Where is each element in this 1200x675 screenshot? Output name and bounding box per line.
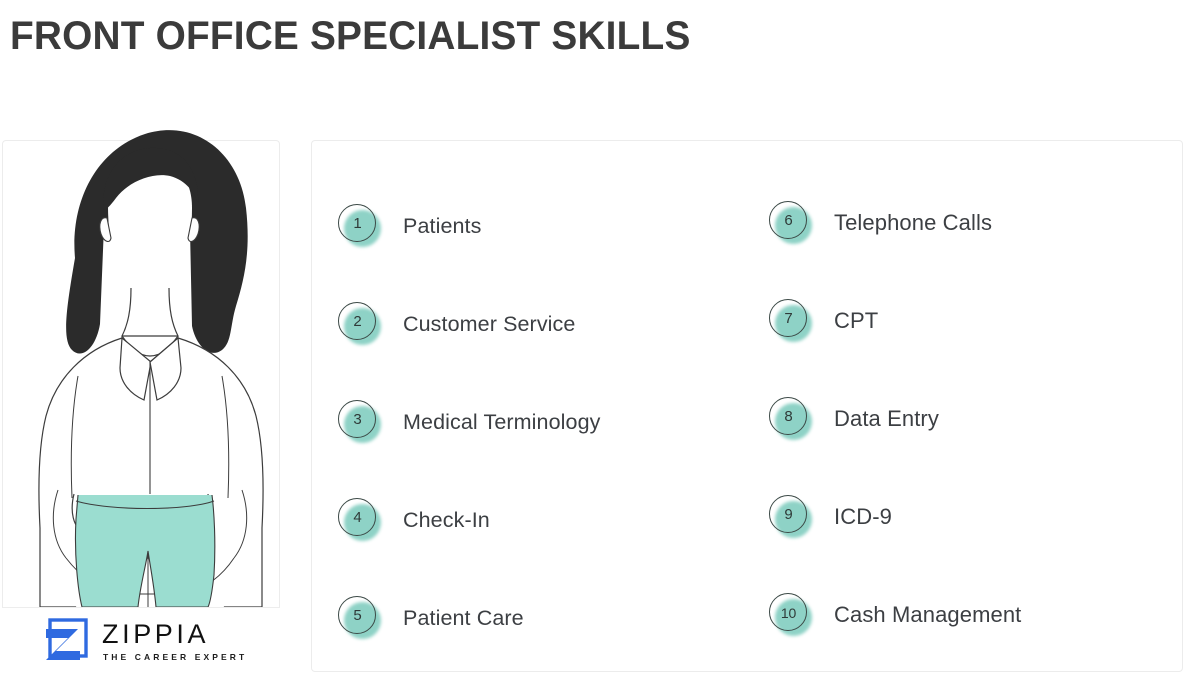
skill-label: Check-In <box>403 508 490 533</box>
skill-number-badge: 2 <box>337 301 383 347</box>
zippia-logo-text: ZIPPIA THE CAREER EXPERT <box>102 619 247 662</box>
portrait-lower-body <box>0 495 290 607</box>
badge-number: 1 <box>352 215 361 231</box>
skills-column-left: 1 Patients 2 Customer Service <box>337 177 757 667</box>
skill-number-badge: 9 <box>768 494 814 540</box>
skill-item[interactable]: 7 CPT <box>768 272 1168 370</box>
skills-card: 1 Patients 2 Customer Service <box>311 140 1183 672</box>
skills-grid: 1 Patients 2 Customer Service <box>312 141 1182 671</box>
skill-number-badge: 4 <box>337 497 383 543</box>
skill-label: ICD-9 <box>834 504 892 530</box>
zippia-logo[interactable]: ZIPPIA THE CAREER EXPERT <box>2 607 280 672</box>
skill-item[interactable]: 2 Customer Service <box>337 275 757 373</box>
badge-ring: 8 <box>769 397 807 435</box>
skill-item[interactable]: 1 Patients <box>337 177 757 275</box>
skill-item[interactable]: 4 Check-In <box>337 471 757 569</box>
skill-number-badge: 3 <box>337 399 383 445</box>
skill-item[interactable]: 5 Patient Care <box>337 569 757 667</box>
skill-label: Patient Care <box>403 606 524 631</box>
skill-label: Cash Management <box>834 602 1021 628</box>
badge-ring: 3 <box>338 400 376 438</box>
skill-number-badge: 7 <box>768 298 814 344</box>
zippia-z-mark-icon <box>44 617 90 663</box>
badge-ring: 4 <box>338 498 376 536</box>
badge-number: 5 <box>352 607 361 623</box>
skill-label: Medical Terminology <box>403 410 600 435</box>
badge-number: 9 <box>783 506 792 522</box>
badge-number: 3 <box>352 411 361 427</box>
skill-number-badge: 5 <box>337 595 383 641</box>
skill-item[interactable]: 9 ICD-9 <box>768 468 1168 566</box>
skill-label: Telephone Calls <box>834 210 992 236</box>
skill-label: Customer Service <box>403 312 575 337</box>
skill-item[interactable]: 3 Medical Terminology <box>337 373 757 471</box>
skill-number-badge: 8 <box>768 396 814 442</box>
badge-number: 8 <box>783 408 792 424</box>
badge-ring: 1 <box>338 204 376 242</box>
skills-column-right: 6 Telephone Calls 7 CPT 8 <box>768 174 1168 664</box>
badge-ring: 6 <box>769 201 807 239</box>
badge-ring: 5 <box>338 596 376 634</box>
badge-number: 4 <box>352 509 361 525</box>
badge-ring: 7 <box>769 299 807 337</box>
badge-ring: 2 <box>338 302 376 340</box>
badge-number: 6 <box>783 212 792 228</box>
badge-number: 2 <box>352 313 361 329</box>
zippia-wordmark: ZIPPIA <box>102 621 247 648</box>
badge-ring: 10 <box>769 593 807 631</box>
skill-item[interactable]: 6 Telephone Calls <box>768 174 1168 272</box>
skill-label: CPT <box>834 308 878 334</box>
skill-number-badge: 10 <box>768 592 814 638</box>
skill-label: Data Entry <box>834 406 939 432</box>
skill-number-badge: 1 <box>337 203 383 249</box>
badge-ring: 9 <box>769 495 807 533</box>
skill-number-badge: 6 <box>768 200 814 246</box>
page-title: FRONT OFFICE SPECIALIST SKILLS <box>10 14 691 59</box>
skill-label: Patients <box>403 214 482 239</box>
badge-number: 10 <box>780 605 796 620</box>
badge-number: 7 <box>783 310 792 326</box>
skill-item[interactable]: 8 Data Entry <box>768 370 1168 468</box>
zippia-tagline: THE CAREER EXPERT <box>103 653 247 662</box>
skill-item[interactable]: 10 Cash Management <box>768 566 1168 664</box>
